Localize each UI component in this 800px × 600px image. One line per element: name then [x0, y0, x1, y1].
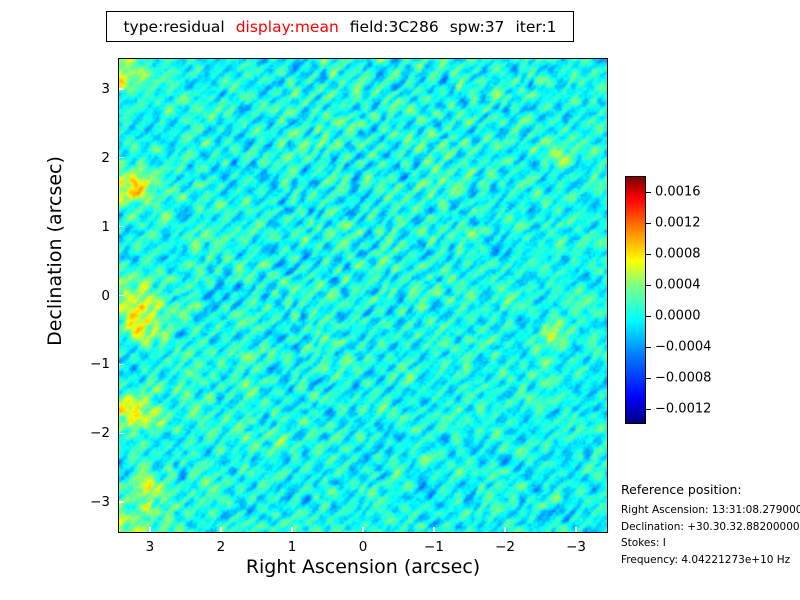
y-tick-mark	[119, 501, 124, 502]
colorbar-tick-label: 0.0000	[655, 308, 701, 323]
colorbar-tick-label: 0.0016	[655, 184, 701, 199]
colorbar-tick-mark	[646, 254, 651, 255]
y-tick-mark	[119, 364, 124, 365]
x-tick-mark	[362, 527, 363, 532]
residual-image-plot[interactable]	[118, 58, 608, 533]
y-tick-mark	[119, 88, 124, 89]
residual-heatmap-canvas[interactable]	[119, 59, 607, 532]
colorbar-tick-mark	[646, 223, 651, 224]
meta-line-stokes: Stokes: I	[621, 535, 800, 552]
y-tick-label: −3	[72, 494, 110, 510]
x-tick-label: −3	[566, 539, 586, 555]
colorbar-tick-mark	[646, 378, 651, 379]
y-tick-mark	[119, 226, 124, 227]
y-tick-mark	[119, 157, 124, 158]
meta-line-right-ascension: Right Ascension: 13:31:08.27900000	[621, 502, 800, 519]
x-tick-mark	[149, 527, 150, 532]
colorbar-tick-label: 0.0004	[655, 277, 701, 292]
colorbar-tick-label: −0.0012	[655, 401, 711, 416]
y-tick-label: 3	[72, 81, 110, 97]
x-tick-mark	[220, 527, 221, 532]
meta-line-frequency: Frequency: 4.04221273e+10 Hz	[621, 552, 800, 569]
x-tick-label: 2	[217, 539, 226, 555]
colorbar-tick-label: −0.0004	[655, 339, 711, 354]
x-tick-label: 0	[359, 539, 368, 555]
colorbar-tick-mark	[646, 347, 651, 348]
x-tick-mark	[575, 527, 576, 532]
x-tick-mark	[504, 527, 505, 532]
x-tick-mark	[291, 527, 292, 532]
title-segment-display: display:mean	[236, 18, 339, 36]
x-tick-label: −2	[495, 539, 515, 555]
title-segment-field: field:3C286	[350, 18, 439, 36]
colorbar-tick-label: 0.0012	[655, 215, 701, 230]
y-tick-label: 1	[72, 219, 110, 235]
colorbar-tick-label: 0.0008	[655, 246, 701, 261]
colorbar-gradient	[625, 176, 646, 424]
x-tick-label: 1	[288, 539, 297, 555]
colorbar-tick-mark	[646, 192, 651, 193]
title-segment-spw: spw:37	[450, 18, 505, 36]
title-segment-iter: iter:1	[515, 18, 556, 36]
y-tick-label: −1	[72, 356, 110, 372]
colorbar-tick-mark	[646, 409, 651, 410]
y-axis-title: Declination (arcsec)	[44, 16, 66, 486]
x-tick-label: 3	[146, 539, 155, 555]
x-axis-title: Right Ascension (arcsec)	[118, 556, 608, 578]
y-tick-label: 0	[72, 288, 110, 304]
y-tick-label: 2	[72, 150, 110, 166]
x-tick-label: −1	[424, 539, 444, 555]
y-tick-mark	[119, 295, 124, 296]
reference-position-block: Reference position: Right Ascension: 13:…	[621, 482, 800, 568]
colorbar-tick-label: −0.0008	[655, 370, 711, 385]
reference-position-heading: Reference position:	[621, 482, 800, 497]
title-segment-type: type:residual	[123, 18, 224, 36]
colorbar-tick-mark	[646, 285, 651, 286]
x-tick-mark	[433, 527, 434, 532]
meta-line-declination: Declination: +30.30.32.88200000	[621, 519, 800, 536]
plot-title-bar: type:residual display:mean field:3C286 s…	[106, 11, 574, 42]
y-tick-mark	[119, 433, 124, 434]
colorbar-tick-mark	[646, 316, 651, 317]
colorbar[interactable]	[625, 176, 646, 424]
y-tick-label: −2	[72, 425, 110, 441]
